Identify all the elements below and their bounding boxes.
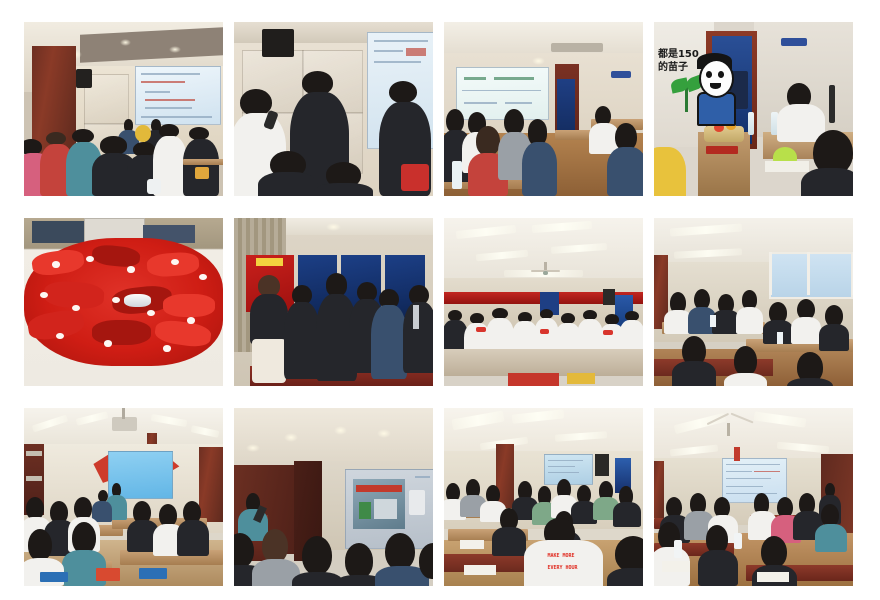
photo-thumbnail[interactable]: 都是150 的苗子 Instructor in white t-shirt se…: [654, 22, 853, 196]
photo-gallery: Training Event Photo Gallery: [0, 0, 880, 600]
tee-print-line-2: EVERY HOUR: [547, 566, 577, 571]
photo-thumbnail[interactable]: Group photo of six staff members standin…: [234, 218, 433, 386]
photo-5-scene: [24, 218, 223, 386]
photo-thumbnail[interactable]: Wide banquet-hall seminar: audience seat…: [24, 22, 223, 196]
sticker-text-line-2: 的苗子: [658, 63, 688, 74]
photo-10-scene: [234, 408, 433, 586]
photo-12-scene: [654, 408, 853, 586]
photo-9-scene: [24, 408, 223, 586]
photo-thumbnail[interactable]: Small classroom: students seated at rows…: [444, 22, 643, 196]
photo-thumbnail[interactable]: Large hall full of students in matching …: [444, 218, 643, 386]
photo-1-scene: [24, 22, 223, 196]
photo-3-scene: [444, 22, 643, 196]
photo-7-scene: [444, 218, 643, 386]
photo-thumbnail[interactable]: Close-up of a large pile of red braided …: [24, 218, 223, 386]
cartoon-sticker-overlay: 都是150 的苗子: [658, 36, 761, 133]
tee-print-line-1: MAKE MORE: [547, 554, 574, 559]
photo-thumbnail[interactable]: Classroom viewed from the back: students…: [654, 218, 853, 386]
photo-thumbnail[interactable]: Speaker in light blue shirt at a wooden …: [234, 408, 433, 586]
photo-6-scene: [234, 218, 433, 386]
photo-4-scene: 都是150 的苗子: [654, 22, 853, 196]
photo-thumbnail[interactable]: Classroom with ceiling projector and a b…: [24, 408, 223, 586]
photo-thumbnail[interactable]: Panel discussion: woman holding a microp…: [234, 22, 433, 196]
photo-thumbnail[interactable]: MAKE MORE EVERY HOUR Crowded classroom s…: [444, 408, 643, 586]
photo-8-scene: [654, 218, 853, 386]
photo-thumbnail[interactable]: Wide classroom with ceiling fan and proj…: [654, 408, 853, 586]
photo-11-scene: MAKE MORE EVERY HOUR: [444, 408, 643, 586]
photo-2-scene: [234, 22, 433, 196]
sticker-text-line-1: 都是150: [658, 50, 699, 61]
photo-grid: Wide banquet-hall seminar: audience seat…: [24, 22, 856, 586]
